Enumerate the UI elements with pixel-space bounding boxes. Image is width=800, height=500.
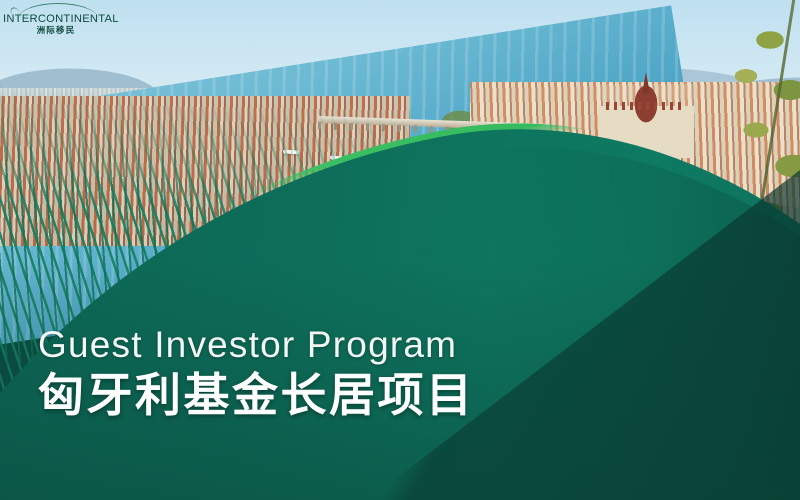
green-wave-graphic (0, 0, 800, 500)
headline-english: Guest Investor Program (38, 323, 638, 367)
headline-chinese: 匈牙利基金长居项目 (38, 369, 638, 421)
company-logo[interactable]: INTERCONTINENTAL 洲际移民 (3, 3, 109, 33)
logo-wordmark-chinese: 洲际移民 (3, 24, 109, 36)
promotional-banner: INTERCONTINENTAL 洲际移民 Guest Investor Pro… (0, 0, 800, 500)
headline-block: Guest Investor Program 匈牙利基金长居项目 (38, 323, 638, 421)
